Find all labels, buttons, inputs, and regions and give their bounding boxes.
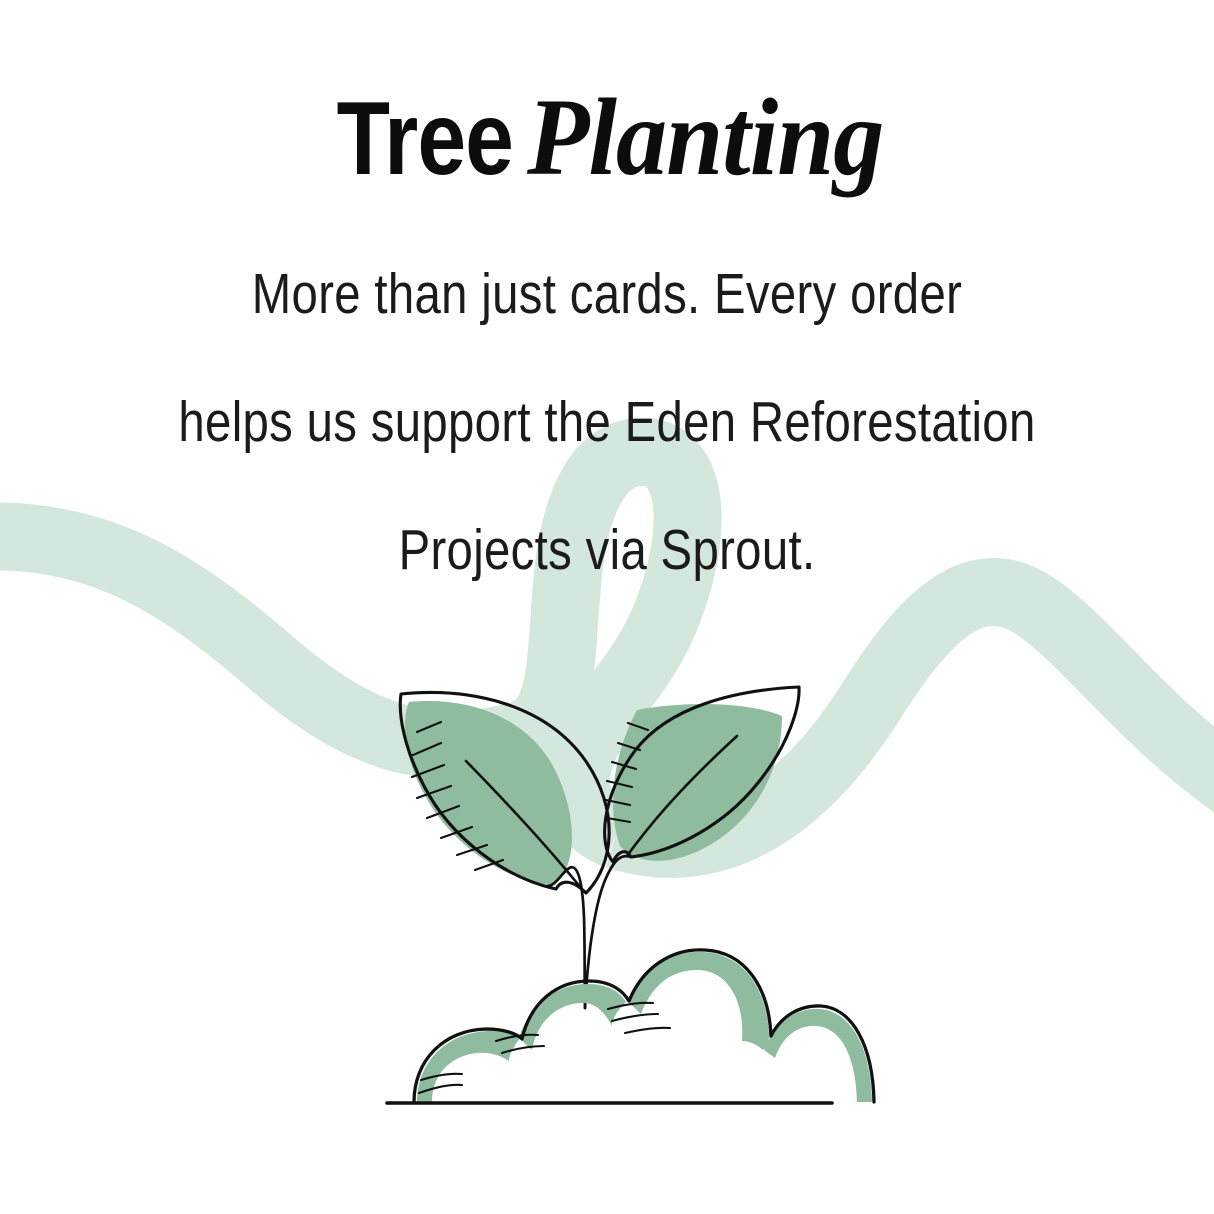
- page-subtitle: More than just cards. Every order helps …: [0, 192, 1214, 614]
- tree-planting-promo-card: TreePlanting More than just cards. Every…: [0, 0, 1214, 1214]
- page-title-italic-word: Planting: [527, 82, 883, 192]
- subtitle-line-1: More than just cards. Every order: [103, 230, 1111, 358]
- subtitle-line-2: helps us support the Eden Reforestation: [103, 358, 1111, 486]
- page-title: TreePlanting: [0, 0, 1214, 192]
- ribbon-right-peak: [616, 592, 1214, 844]
- subtitle-line-3: Projects via Sprout.: [103, 486, 1111, 614]
- text-content-block: TreePlanting More than just cards. Every…: [0, 0, 1214, 614]
- page-title-bold-word: Tree: [337, 87, 513, 191]
